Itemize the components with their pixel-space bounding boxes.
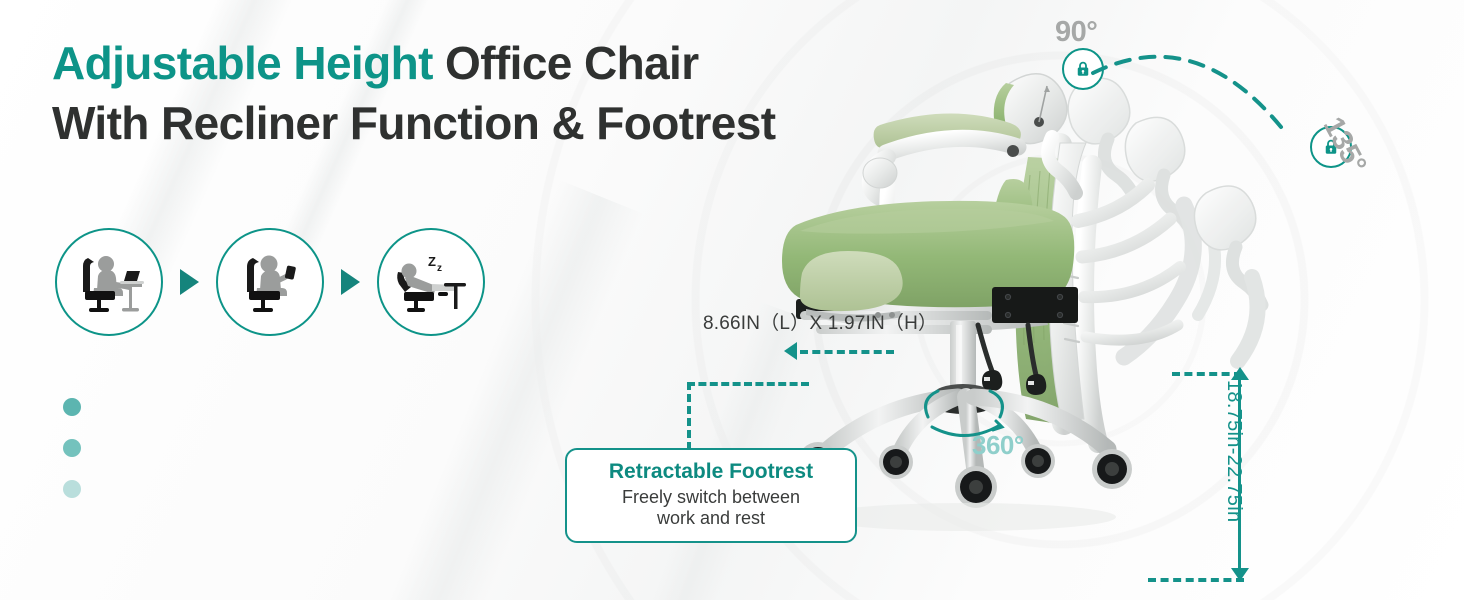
callout-subtitle-line-1: Freely switch between [575,487,847,508]
callout-title: Retractable Footrest [575,460,847,484]
callout-connector-vertical [687,382,691,450]
step-reclined-sleeping[interactable]: Z z [377,228,485,336]
step-leaning-back-phone[interactable] [216,228,324,336]
person-sitting-upright-laptop-icon [72,250,146,314]
headline-rest: Office Chair [445,37,699,89]
swivel-label: 360° [972,430,1024,461]
dot-2 [63,439,81,457]
callout-subtitle-line-2: work and rest [575,508,847,529]
recline-arc [1085,35,1335,170]
svg-text:z: z [437,263,442,274]
person-leaning-back-phone-icon [233,250,307,314]
footrest-dimension-line [800,350,894,354]
footrest-callout[interactable]: Retractable Footrest Freely switch betwe… [565,448,857,543]
callout-connector-horizontal [687,382,809,386]
step-arrow-icon [180,269,199,295]
height-range-label: 18.75in-22.75in [1222,380,1245,570]
step-arrow-icon [341,269,360,295]
footrest-dimension-label: 8.66IN（L）X 1.97IN（H） [703,308,937,335]
svg-text:Z: Z [428,254,436,269]
step-working-at-desk[interactable] [55,228,163,336]
dot-3 [63,480,81,498]
usage-steps: Z z [55,228,485,336]
dot-1 [63,398,81,416]
decorative-dots [63,398,81,521]
footrest-dimension-arrowhead [784,342,797,360]
person-reclined-sleeping-icon: Z z [392,250,470,314]
product-infographic: Adjustable Height Office Chair With Recl… [0,0,1464,600]
headline-accent: Adjustable Height [52,37,433,89]
height-bottom-guide [1148,578,1244,582]
height-arrowhead-top [1231,367,1249,380]
tilt-mechanism [992,287,1078,323]
